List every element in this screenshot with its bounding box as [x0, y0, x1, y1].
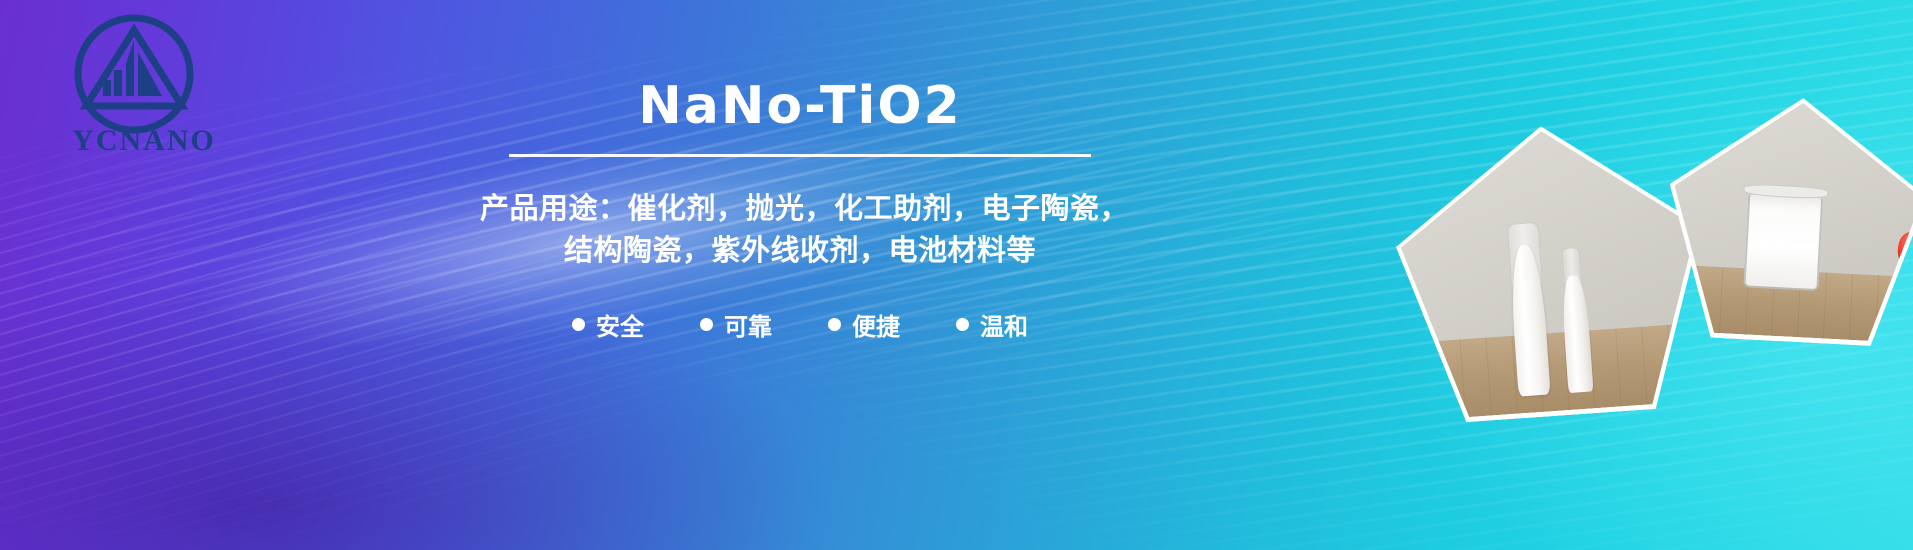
product-photo-beaker-image: [1667, 97, 1913, 344]
hero-subtitle: 产品用途：催化剂，抛光，化工助剂，电子陶瓷， 结构陶瓷，紫外线收剂，电池材料等: [480, 187, 1120, 271]
feature-label: 便捷: [852, 307, 900, 342]
subtitle-line-1: 产品用途：催化剂，抛光，化工助剂，电子陶瓷，: [480, 187, 1120, 229]
product-photo-beaker: [1662, 91, 1913, 348]
feature-item-safe: 安全: [572, 307, 644, 342]
feature-label: 温和: [980, 307, 1028, 342]
bullet-dot-icon: [956, 318, 969, 331]
feature-item-reliable: 可靠: [700, 307, 772, 342]
product-banner: YCNANO NaNo-TiO2 产品用途：催化剂，抛光，化工助剂，电子陶瓷， …: [0, 0, 1913, 550]
feature-label: 可靠: [724, 307, 772, 342]
photo-background-wall: [1394, 121, 1703, 343]
logo-emblem-icon: [70, 12, 198, 140]
page-title: NaNo-TiO2: [480, 80, 1120, 132]
logo-wordmark: YCNANO: [46, 124, 242, 158]
subtitle-line-2: 结构陶瓷，紫外线收剂，电池材料等: [480, 229, 1120, 271]
white-slurry-beaker: [1744, 194, 1823, 291]
bullet-dot-icon: [828, 318, 841, 331]
red-fruit-accent: [1670, 329, 1709, 379]
feature-item-mild: 温和: [956, 307, 1028, 342]
feature-list: 安全 可靠 便捷 温和: [480, 307, 1120, 342]
company-logo[interactable]: YCNANO: [46, 8, 242, 168]
product-photo-vases: [1388, 116, 1713, 427]
feature-item-convenient: 便捷: [828, 307, 900, 342]
hero-content: NaNo-TiO2 产品用途：催化剂，抛光，化工助剂，电子陶瓷， 结构陶瓷，紫外…: [480, 60, 1120, 342]
title-divider: [509, 154, 1091, 157]
bullet-dot-icon: [572, 318, 585, 331]
product-photo-vases-image: [1394, 121, 1709, 421]
feature-label: 安全: [596, 307, 644, 342]
bullet-dot-icon: [700, 318, 713, 331]
